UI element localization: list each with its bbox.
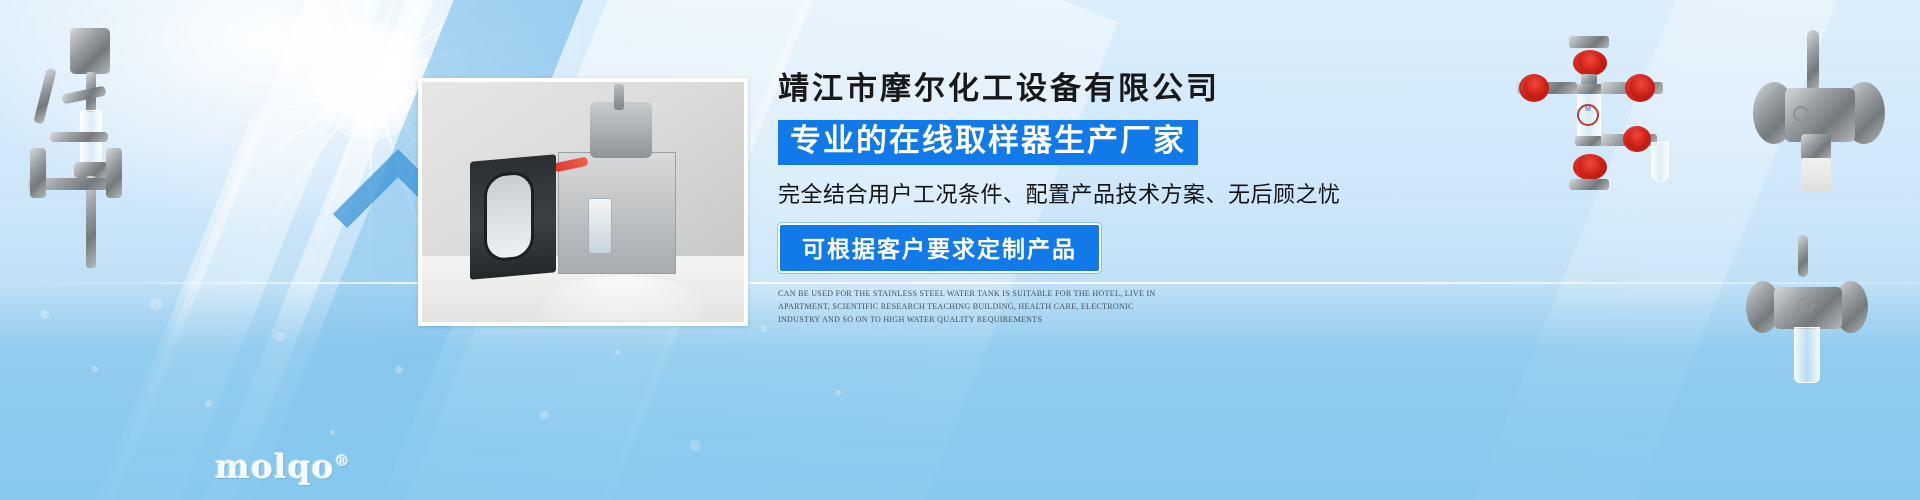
promo-banner: 靖江市摩尔化工设备有限公司 专业的在线取样器生产厂家 完全结合用户工况条件、配置… — [0, 0, 1920, 500]
sub-headline: 完全结合用户工况条件、配置产品技术方案、无后顾之忧 — [778, 177, 1398, 209]
headline-highlight-bar: 专业的在线取样器生产厂家 — [778, 120, 1198, 165]
product-cross-valve-assembly: M — [1505, 36, 1680, 191]
molqo-seal-icon — [1793, 106, 1809, 122]
molqo-seal-icon: M — [1577, 104, 1599, 126]
product-inline-sampling-valve — [1740, 235, 1880, 400]
product-flanged-lever-valve — [1745, 30, 1895, 200]
english-description: CAN BE USED FOR THE STAINLESS STEEL WATE… — [778, 287, 1178, 327]
registered-mark-icon: ® — [335, 452, 351, 470]
custom-product-pill: 可根据客户要求定制产品 — [778, 223, 1101, 273]
company-title: 靖江市摩尔化工设备有限公司 — [778, 72, 1398, 106]
molqo-seal-icon — [1798, 297, 1814, 313]
brand-watermark: molqo® — [215, 447, 351, 486]
product-left-sampler-assembly — [10, 28, 160, 278]
brand-watermark-text: molqo — [215, 447, 335, 486]
product-photo-card — [418, 78, 748, 326]
headline-text-block: 靖江市摩尔化工设备有限公司 专业的在线取样器生产厂家 完全结合用户工况条件、配置… — [778, 72, 1398, 326]
product-photo-image — [422, 82, 744, 322]
